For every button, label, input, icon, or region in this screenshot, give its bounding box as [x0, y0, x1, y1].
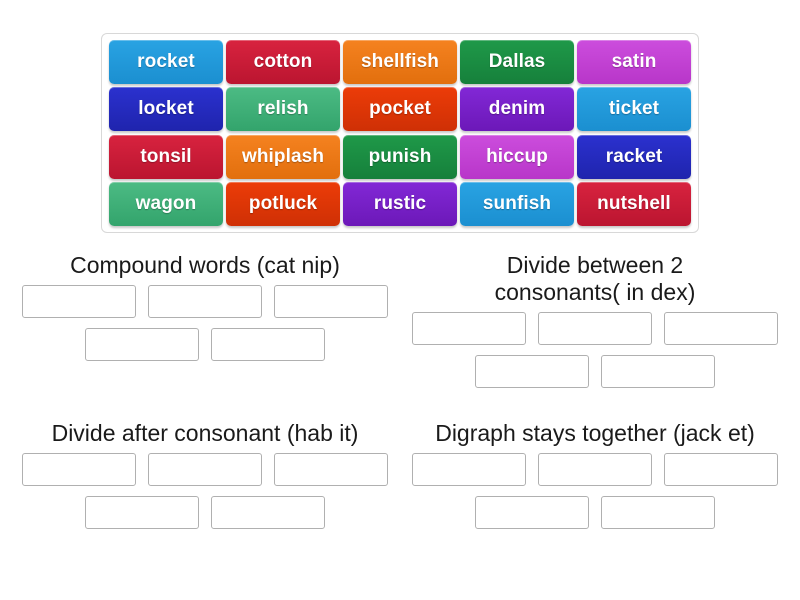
- category-title-line: Divide after consonant (hab it): [14, 420, 396, 447]
- category-title-0: Compound words (cat nip): [10, 252, 400, 279]
- drop-zone[interactable]: [412, 453, 526, 486]
- word-tile[interactable]: ticket: [577, 87, 691, 131]
- drop-zone[interactable]: [475, 355, 589, 388]
- drop-zone[interactable]: [475, 496, 589, 529]
- category-group-3: Digraph stays together (jack et): [400, 420, 790, 529]
- drop-zone[interactable]: [22, 453, 136, 486]
- tile-row: tonsilwhiplashpunishhiccupracket: [109, 135, 691, 179]
- word-tile[interactable]: sunfish: [460, 182, 574, 226]
- word-tile[interactable]: whiplash: [226, 135, 340, 179]
- drop-zone[interactable]: [412, 312, 526, 345]
- drop-zone[interactable]: [211, 328, 325, 361]
- drop-zone[interactable]: [538, 453, 652, 486]
- word-tile[interactable]: cotton: [226, 40, 340, 84]
- category-group-2: Divide after consonant (hab it): [10, 420, 400, 529]
- category-title-1: Divide between 2consonants( in dex): [400, 252, 790, 306]
- word-tile[interactable]: wagon: [109, 182, 223, 226]
- tile-row: rocketcottonshellfishDallassatin: [109, 40, 691, 84]
- drop-zone[interactable]: [538, 312, 652, 345]
- word-tile[interactable]: rustic: [343, 182, 457, 226]
- word-tile[interactable]: relish: [226, 87, 340, 131]
- category-title-line: consonants( in dex): [404, 279, 786, 306]
- word-tile[interactable]: satin: [577, 40, 691, 84]
- drop-zone-container-1: [400, 312, 790, 388]
- drop-zone[interactable]: [148, 453, 262, 486]
- drop-zone-row: [85, 328, 325, 361]
- drop-zone-container-2: [10, 453, 400, 529]
- drop-zone[interactable]: [211, 496, 325, 529]
- word-tile-bank: rocketcottonshellfishDallassatinlocketre…: [101, 33, 699, 233]
- drop-zone-row: [475, 496, 715, 529]
- drop-zone-row: [22, 285, 388, 318]
- category-group-0: Compound words (cat nip): [10, 252, 400, 361]
- drop-zone[interactable]: [22, 285, 136, 318]
- drop-zone-row: [412, 312, 778, 345]
- tile-row: locketrelishpocketdenimticket: [109, 87, 691, 131]
- drop-zone[interactable]: [85, 328, 199, 361]
- word-tile[interactable]: Dallas: [460, 40, 574, 84]
- drop-zone-row: [85, 496, 325, 529]
- drop-zone-row: [412, 453, 778, 486]
- word-tile[interactable]: nutshell: [577, 182, 691, 226]
- category-title-line: Divide between 2: [404, 252, 786, 279]
- category-group-1: Divide between 2consonants( in dex): [400, 252, 790, 388]
- drop-zone[interactable]: [274, 453, 388, 486]
- word-tile[interactable]: shellfish: [343, 40, 457, 84]
- drop-zone-row: [475, 355, 715, 388]
- drop-zone[interactable]: [148, 285, 262, 318]
- drop-zone-container-0: [10, 285, 400, 361]
- category-title-2: Divide after consonant (hab it): [10, 420, 400, 447]
- word-tile[interactable]: punish: [343, 135, 457, 179]
- drop-zone[interactable]: [601, 496, 715, 529]
- drop-zone[interactable]: [601, 355, 715, 388]
- category-title-line: Digraph stays together (jack et): [404, 420, 786, 447]
- category-title-3: Digraph stays together (jack et): [400, 420, 790, 447]
- drop-zone[interactable]: [274, 285, 388, 318]
- drop-zone-row: [22, 453, 388, 486]
- word-tile[interactable]: tonsil: [109, 135, 223, 179]
- category-title-line: Compound words (cat nip): [14, 252, 396, 279]
- word-tile[interactable]: pocket: [343, 87, 457, 131]
- word-tile[interactable]: potluck: [226, 182, 340, 226]
- drop-zone[interactable]: [664, 312, 778, 345]
- word-tile[interactable]: denim: [460, 87, 574, 131]
- drop-zone-container-3: [400, 453, 790, 529]
- word-tile[interactable]: locket: [109, 87, 223, 131]
- tile-row: wagonpotluckrusticsunfishnutshell: [109, 182, 691, 226]
- drop-zone[interactable]: [664, 453, 778, 486]
- drop-zone[interactable]: [85, 496, 199, 529]
- word-tile[interactable]: racket: [577, 135, 691, 179]
- word-tile[interactable]: rocket: [109, 40, 223, 84]
- word-tile[interactable]: hiccup: [460, 135, 574, 179]
